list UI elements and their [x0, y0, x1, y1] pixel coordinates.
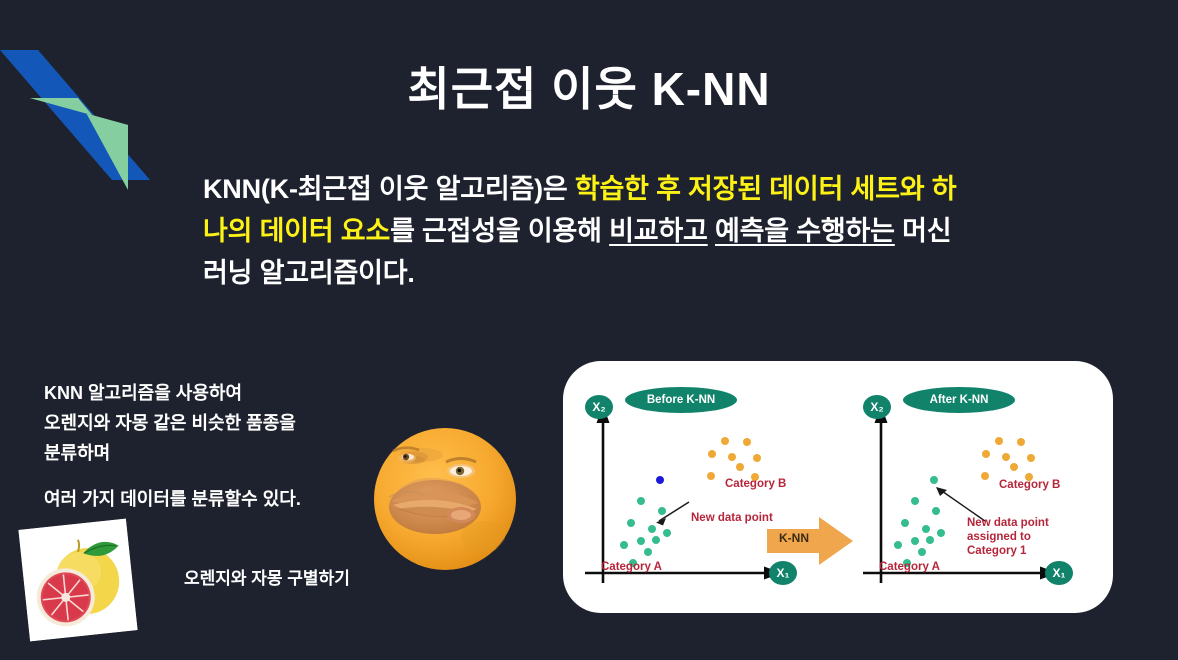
slide-canvas: 최근접 이웃 K-NN KNN(K-최근접 이웃 알고리즘)은 학습한 후 저장… [0, 0, 1178, 660]
note-line-2: 오렌지와 자몽 같은 비슷한 품종을 [44, 408, 374, 438]
point-category-b [1010, 463, 1018, 471]
point-category-a [932, 507, 940, 515]
point-category-a [627, 519, 635, 527]
chart-title-before: Before K-NN [625, 387, 737, 413]
note-line-1: KNN 알고리즘을 사용하여 [44, 378, 374, 408]
point-category-b [743, 438, 751, 446]
assigned-line-2: assigned to [967, 530, 1049, 544]
point-category-a [637, 537, 645, 545]
point-category-b [1017, 438, 1025, 446]
y-axis-badge-after: X₂ [863, 395, 891, 419]
point-category-a [658, 507, 666, 515]
point-category-a [911, 497, 919, 505]
knn-arrow-label: K-NN [779, 531, 809, 545]
assigned-line-1: New data point [967, 516, 1049, 530]
label-category-a-after: Category A [879, 561, 940, 573]
point-category-b [708, 450, 716, 458]
label-category-b-before: Category B [725, 478, 786, 490]
point-new-data [656, 476, 664, 484]
chart-title-after: After K-NN [903, 387, 1015, 413]
page-title: 최근접 이웃 K-NN [0, 64, 1178, 115]
point-category-a [926, 536, 934, 544]
label-new-data-point-before: New data point [691, 511, 773, 525]
image-caption: 오렌지와 자몽 구별하기 [184, 564, 350, 589]
left-notes: KNN 알고리즘을 사용하여 오렌지와 자몽 같은 비슷한 품종을 분류하며 여… [44, 378, 374, 514]
y-axis-badge-before: X₂ [585, 395, 613, 419]
label-category-b-after: Category B [999, 479, 1060, 491]
point-category-b [728, 453, 736, 461]
point-category-a [637, 497, 645, 505]
point-category-a [911, 537, 919, 545]
chart-after-knn: X₂ X₁ After K-NN Category [849, 361, 1113, 613]
point-category-b [1027, 454, 1035, 462]
point-category-a [937, 529, 945, 537]
point-category-b [981, 472, 989, 480]
point-category-a [918, 548, 926, 556]
knn-diagram-panel: X₂ X₁ Before K-NN Catego [563, 361, 1113, 613]
paragraph-underline-2: 예측을 수행하는 [715, 216, 895, 246]
point-category-b [982, 450, 990, 458]
point-category-b [721, 437, 729, 445]
point-category-a [644, 548, 652, 556]
paragraph-seg-1: KNN(K-최근접 이웃 알고리즘)은 [203, 174, 575, 204]
point-category-a [648, 525, 656, 533]
point-category-a [652, 536, 660, 544]
note-line-3: 분류하며 [44, 438, 374, 468]
point-category-a [620, 541, 628, 549]
label-new-data-assigned: New data point assigned to Category 1 [967, 516, 1049, 558]
x-axis-badge-after: X₁ [1045, 561, 1073, 585]
point-category-b [753, 454, 761, 462]
note-spacer [44, 468, 374, 484]
point-category-a [663, 529, 671, 537]
annoying-orange-image [373, 427, 517, 571]
point-category-b [707, 472, 715, 480]
point-category-a [894, 541, 902, 549]
assigned-line-3: Category 1 [967, 544, 1049, 558]
point-category-b [995, 437, 1003, 445]
point-category-a [922, 525, 930, 533]
point-category-b [1002, 453, 1010, 461]
point-category-a [901, 519, 909, 527]
grapefruit-image [18, 519, 137, 642]
paragraph-underline-1: 비교하고 [609, 216, 708, 246]
paragraph-highlight-1: 학습한 후 저장된 데이터 [575, 174, 843, 204]
chart-before-knn: X₂ X₁ Before K-NN Catego [563, 361, 853, 613]
paragraph-seg-2: 를 근접성을 이용해 [390, 216, 609, 246]
point-category-b [736, 463, 744, 471]
description-paragraph: KNN(K-최근접 이웃 알고리즘)은 학습한 후 저장된 데이터 세트와 하나… [203, 168, 963, 294]
label-category-a-before: Category A [601, 561, 662, 573]
point-new-data-assigned [930, 476, 938, 484]
note-line-4: 여러 가지 데이터를 분류할수 있다. [44, 484, 374, 514]
